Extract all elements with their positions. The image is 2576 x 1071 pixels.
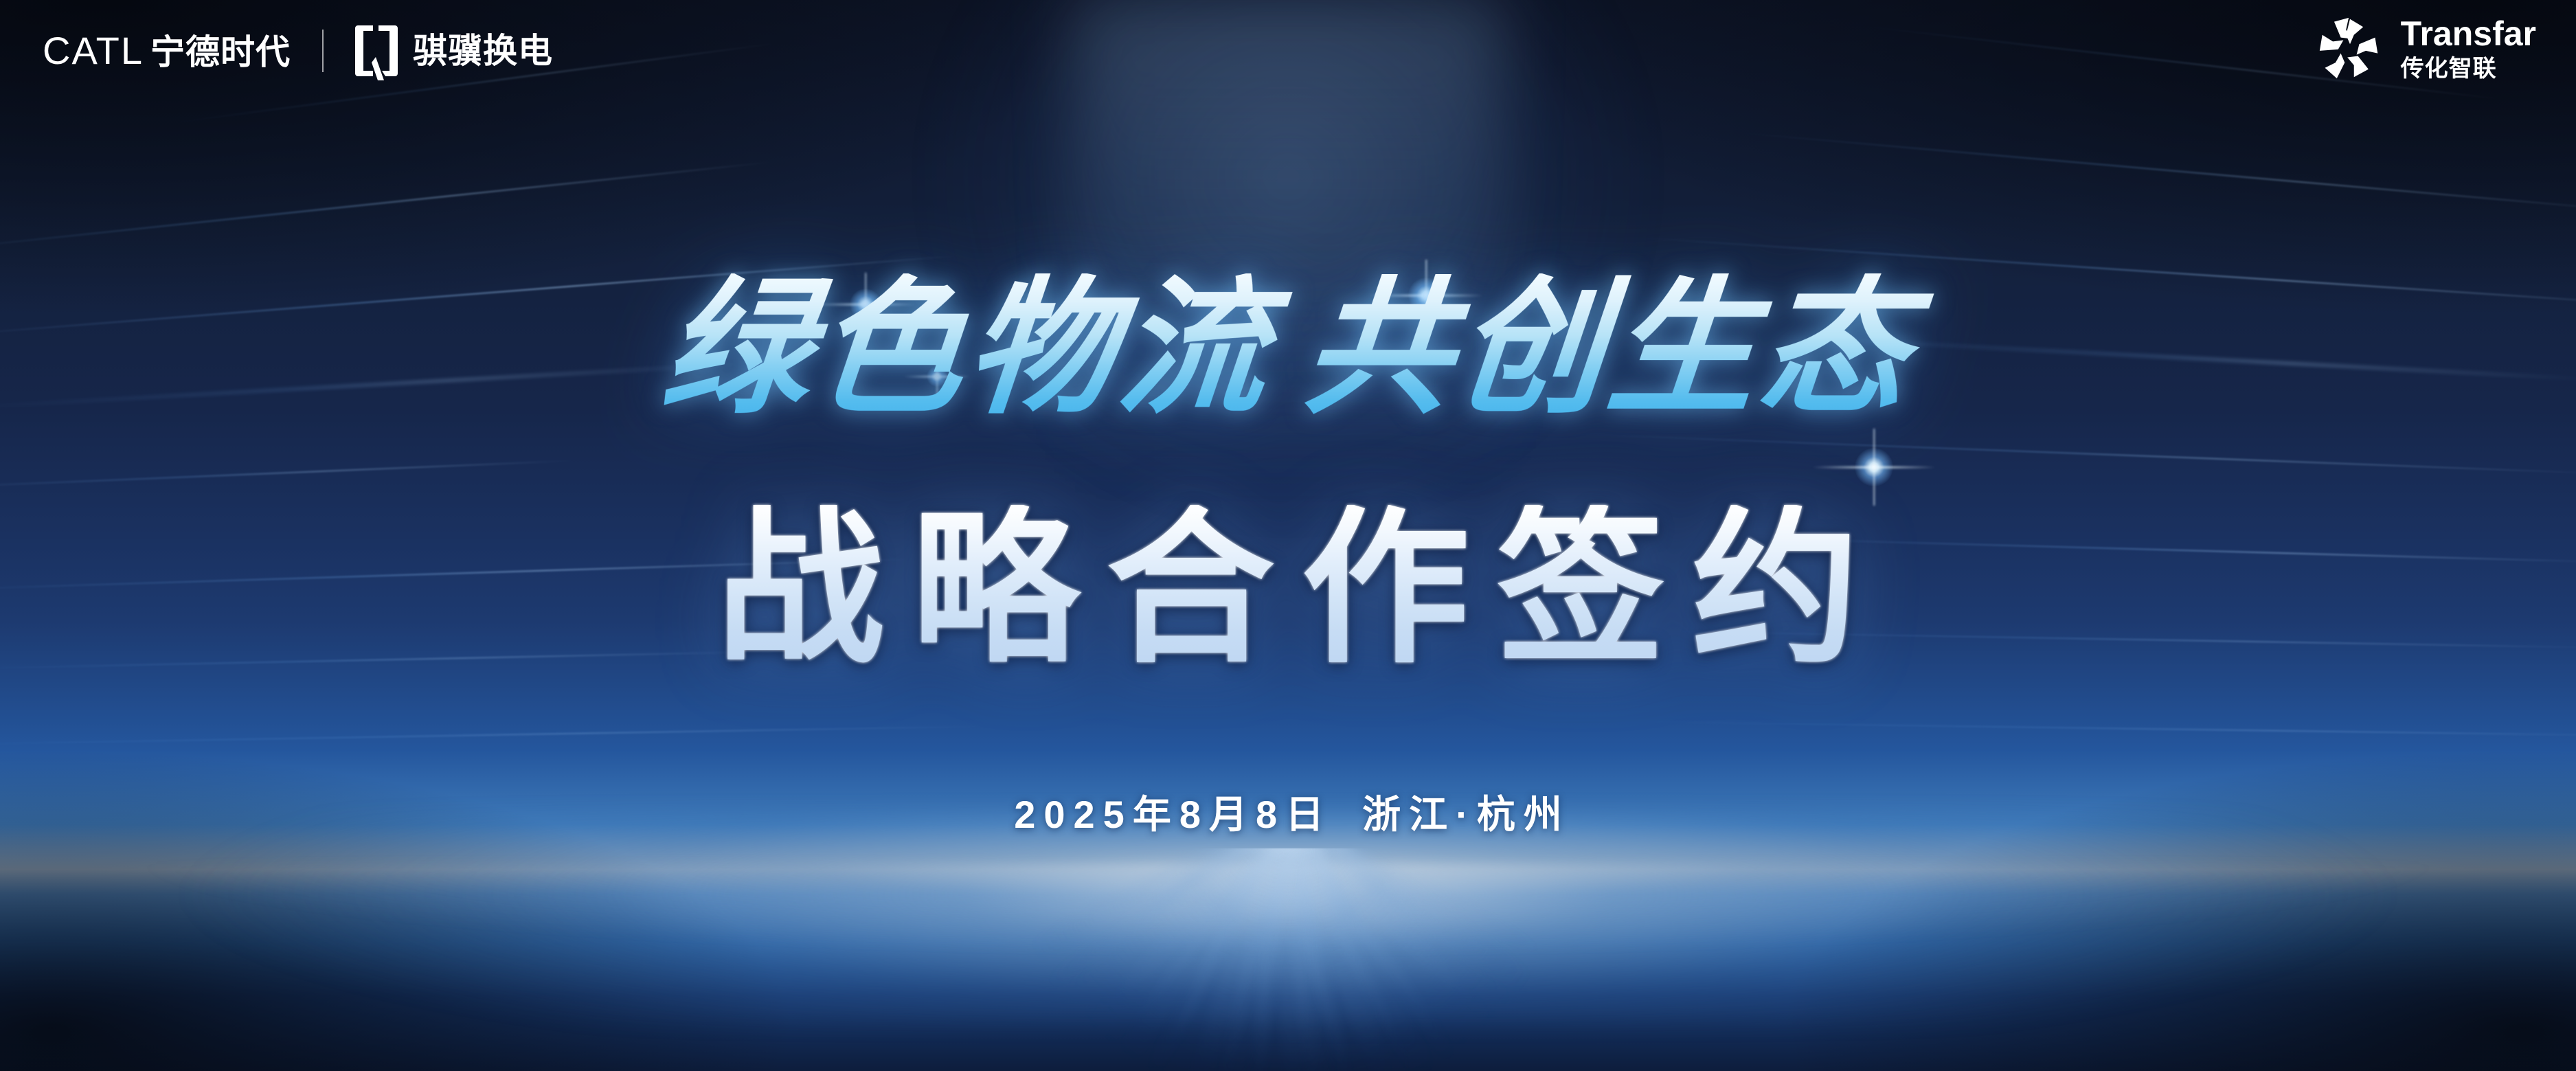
transfar-wordmark: Transfar 传化智联 bbox=[2401, 16, 2536, 80]
catl-chinese-name: 宁德时代 bbox=[150, 35, 291, 69]
catl-latin-name: CATL bbox=[43, 32, 144, 70]
event-key-visual: CATL 宁德时代 骐骥换电 Transfar 传化智联 bbox=[0, 0, 2576, 1071]
transfar-pinwheel-icon bbox=[2317, 15, 2383, 81]
event-location: 浙江·杭州 bbox=[1362, 793, 1570, 836]
catl-logo: CATL 宁德时代 bbox=[43, 32, 291, 70]
event-date-location: 2025年8月8日浙江·杭州 bbox=[0, 796, 2576, 834]
event-title: 战略合作签约 bbox=[0, 505, 2576, 673]
transfar-chinese-name: 传化智联 bbox=[2401, 57, 2497, 80]
event-slogan: 绿色物流共创生态 bbox=[0, 273, 2576, 421]
slogan-part-1: 绿色物流 bbox=[656, 260, 1278, 434]
floor-light-rays bbox=[0, 848, 2576, 1071]
event-date: 2025年8月8日 bbox=[1014, 793, 1332, 836]
slogan-part-2: 共创生态 bbox=[1298, 260, 1920, 434]
partner-logo-lockup-left: CATL 宁德时代 骐骥换电 bbox=[43, 19, 553, 82]
battery-swap-icon bbox=[355, 21, 398, 80]
qiji-chinese-name: 骐骥换电 bbox=[413, 34, 553, 68]
partner-logo-lockup-right: Transfar 传化智联 bbox=[2317, 15, 2536, 81]
logo-divider bbox=[322, 30, 324, 72]
transfar-english-name: Transfar bbox=[2401, 16, 2536, 51]
